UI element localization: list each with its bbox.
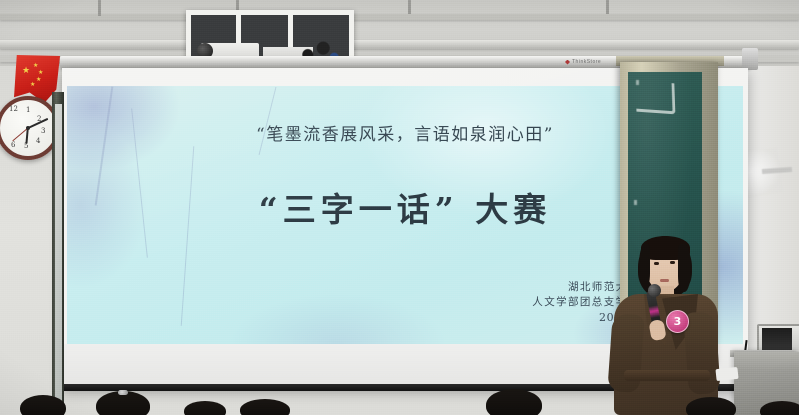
door-glass-pane: [55, 104, 62, 404]
chalk-dot: [634, 200, 637, 205]
roller-end-cap: [742, 48, 758, 70]
papers-on-podium: [715, 367, 738, 381]
speaker-coat-belt: [624, 370, 710, 381]
ceiling-hanger: [408, 0, 411, 14]
classroom-photo-scene: ThinkStore “笔墨流香展风采，言语如泉润心田” “三字一话” 大赛 湖…: [0, 0, 799, 415]
audience-head: [760, 401, 799, 415]
speaker-arm-right: [683, 311, 721, 395]
roller-brand-label: ThinkStore: [572, 59, 601, 65]
slide-credit-date: 2024年3月12日: [67, 310, 687, 326]
speaker-eye-left: [654, 262, 659, 265]
audience-head: [240, 399, 290, 415]
audience-head: [184, 401, 226, 415]
ceiling-beam-middle: [0, 40, 799, 49]
clock-center-pin: [26, 126, 30, 130]
diamond-mark-icon: [565, 60, 570, 65]
ceiling-beam-upper: [0, 14, 799, 20]
speaker-person: 3: [600, 228, 732, 415]
ceiling-hanger: [606, 0, 609, 14]
ceiling-hanger: [98, 0, 101, 16]
hair-clip-icon: [118, 390, 128, 395]
slide-credit-department: 人文学部团总支学生会学习部: [67, 295, 687, 310]
speaker-hair-right: [678, 244, 691, 292]
audience-head: [486, 389, 542, 415]
chalk-dot: [636, 80, 639, 85]
slide-credit-organization: 湖北师范大学文理学院: [67, 280, 687, 295]
speaker-mouth: [660, 279, 669, 282]
speaker-arm-left: [607, 313, 644, 393]
speaker-eye-right: [670, 261, 675, 264]
speaker-hair-left: [639, 244, 650, 288]
roller-brand-logo: ThinkStore: [565, 59, 601, 65]
audience-head: [686, 397, 736, 415]
chalk-character: [635, 81, 675, 115]
audience-head: [20, 395, 66, 415]
contestant-number-badge: 3: [666, 310, 689, 333]
laptop-screen: [762, 328, 792, 350]
